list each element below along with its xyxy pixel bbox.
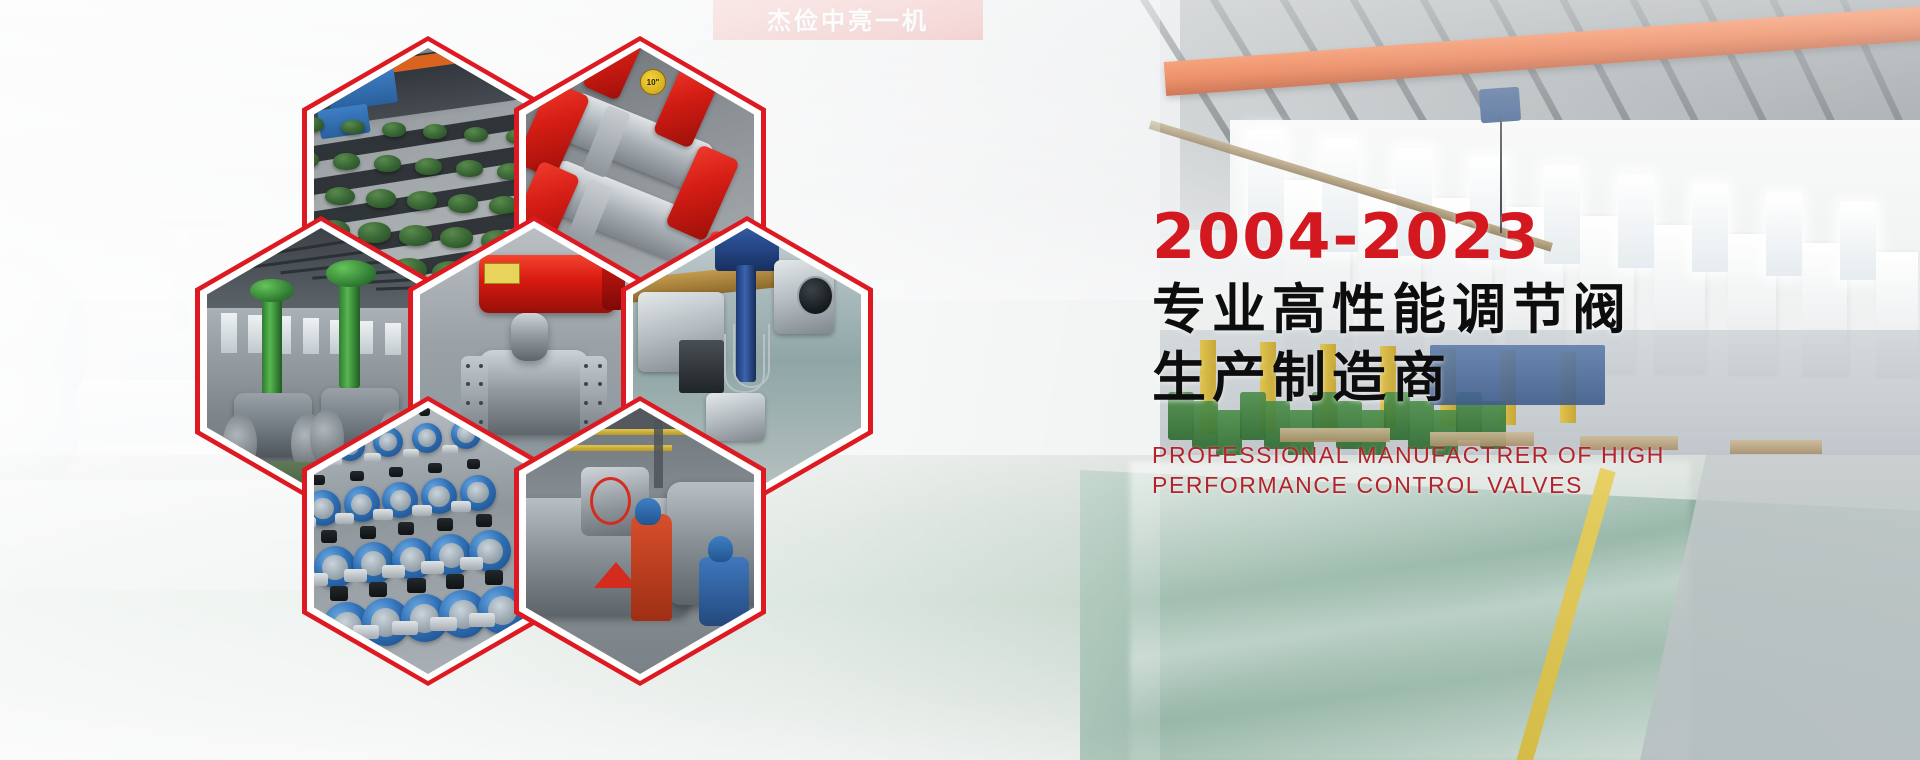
flange-stud	[466, 382, 470, 386]
green-actuator-cap	[440, 227, 474, 248]
butterfly-gearbox	[421, 561, 444, 574]
support-column	[654, 419, 663, 488]
green-actuator-cap	[456, 160, 483, 177]
butterfly-actuator	[321, 530, 337, 543]
worker-blue-helmet	[635, 498, 660, 525]
flange-stud	[479, 420, 483, 424]
headline-cn-line-1: 专业高性能调节阀	[1152, 276, 1892, 344]
valve-body-flange	[706, 393, 765, 441]
flange-stud	[466, 364, 470, 368]
green-actuator-cap	[464, 127, 488, 142]
valve-stem-green-2	[339, 276, 360, 388]
butterfly-actuator	[369, 582, 387, 596]
ball-valve-neck	[511, 313, 547, 361]
green-actuator-cap	[448, 194, 478, 213]
hexagon-photo-cluster: 10" 10"	[250, 0, 1010, 760]
butterfly-actuator	[476, 514, 492, 527]
butterfly-actuator	[350, 471, 364, 482]
green-actuator-cap	[333, 153, 360, 170]
headline-en: PROFESSIONAL MANUFACTRER OF HIGH PERFORM…	[1152, 441, 1892, 500]
floor-reflection	[1130, 462, 1690, 760]
butterfly-actuator	[314, 475, 325, 486]
green-actuator-cap	[325, 187, 355, 206]
butterfly-actuator	[446, 574, 464, 588]
cylinder-warning-label	[484, 263, 520, 284]
butterfly-actuator	[398, 522, 414, 535]
air-tube-2	[733, 324, 769, 388]
butterfly-gearbox	[364, 453, 381, 462]
headline-cn-line-2: 生产制造商	[1152, 344, 1892, 412]
butterfly-gearbox	[335, 513, 355, 524]
flange-stud	[598, 401, 602, 405]
butterfly-gearbox	[412, 505, 432, 516]
butterfly-actuator	[428, 463, 442, 474]
workshop-window	[385, 323, 401, 355]
year-range: 2004-2023	[1152, 205, 1892, 268]
valve-stem-green	[262, 292, 283, 398]
butterfly-gearbox	[403, 449, 420, 458]
valve-bonnet-green-2	[326, 260, 376, 287]
handwheel-ring	[590, 477, 631, 525]
butterfly-gearbox	[314, 573, 328, 586]
butterfly-gearbox	[382, 565, 405, 578]
valve-size-tag-text-2: 10"	[647, 78, 660, 87]
flange-stud	[479, 364, 483, 368]
green-actuator-cap	[399, 225, 433, 246]
butterfly-gearbox	[314, 517, 316, 528]
valve-bonnet-green	[250, 279, 293, 303]
butterfly-gearbox	[460, 557, 483, 570]
green-actuator-cap	[366, 189, 396, 208]
butterfly-gearbox	[344, 569, 367, 582]
workshop-window	[221, 313, 237, 353]
pressure-gauge	[797, 276, 833, 316]
positioner-manifold	[679, 340, 725, 393]
workshop-window	[303, 318, 319, 354]
butterfly-valve-disc	[412, 423, 442, 453]
hero-banner: 杰俭中亮一机 10"	[0, 0, 1920, 760]
butterfly-actuator	[407, 578, 425, 592]
butterfly-gearbox	[392, 621, 418, 635]
worker-red-suit	[631, 514, 672, 620]
green-actuator-cap	[423, 124, 447, 139]
green-actuator-cap	[415, 158, 442, 175]
butterfly-gearbox	[442, 445, 459, 454]
butterfly-actuator	[485, 570, 503, 584]
butterfly-actuator	[389, 467, 403, 478]
workshop-window	[357, 321, 373, 354]
butterfly-gearbox	[314, 629, 340, 643]
green-actuator-cap	[374, 155, 401, 172]
headline-text-block: 2004-2023 专业高性能调节阀 生产制造商 PROFESSIONAL MA…	[1152, 205, 1892, 500]
green-actuator-cap	[382, 122, 406, 137]
worker-blue-helmet-2	[708, 536, 733, 563]
butterfly-actuator	[467, 459, 481, 470]
butterfly-gearbox	[430, 617, 456, 631]
valve-size-tag-small: 10"	[640, 69, 666, 95]
green-actuator-cap	[407, 191, 437, 210]
butterfly-gearbox	[451, 501, 471, 512]
butterfly-gearbox	[469, 613, 495, 627]
butterfly-gearbox	[373, 509, 393, 520]
butterfly-actuator	[330, 586, 348, 600]
butterfly-actuator	[360, 526, 376, 539]
ball-valve-body	[479, 350, 588, 435]
flange-stud	[466, 401, 470, 405]
butterfly-actuator	[437, 518, 453, 531]
flange-stud	[584, 420, 588, 424]
flange-stud	[584, 364, 588, 368]
flange-stud	[598, 364, 602, 368]
headline-en-line-2: PERFORMANCE CONTROL VALVES	[1152, 471, 1892, 500]
headline-en-line-1: PROFESSIONAL MANUFACTRER OF HIGH	[1152, 441, 1892, 470]
